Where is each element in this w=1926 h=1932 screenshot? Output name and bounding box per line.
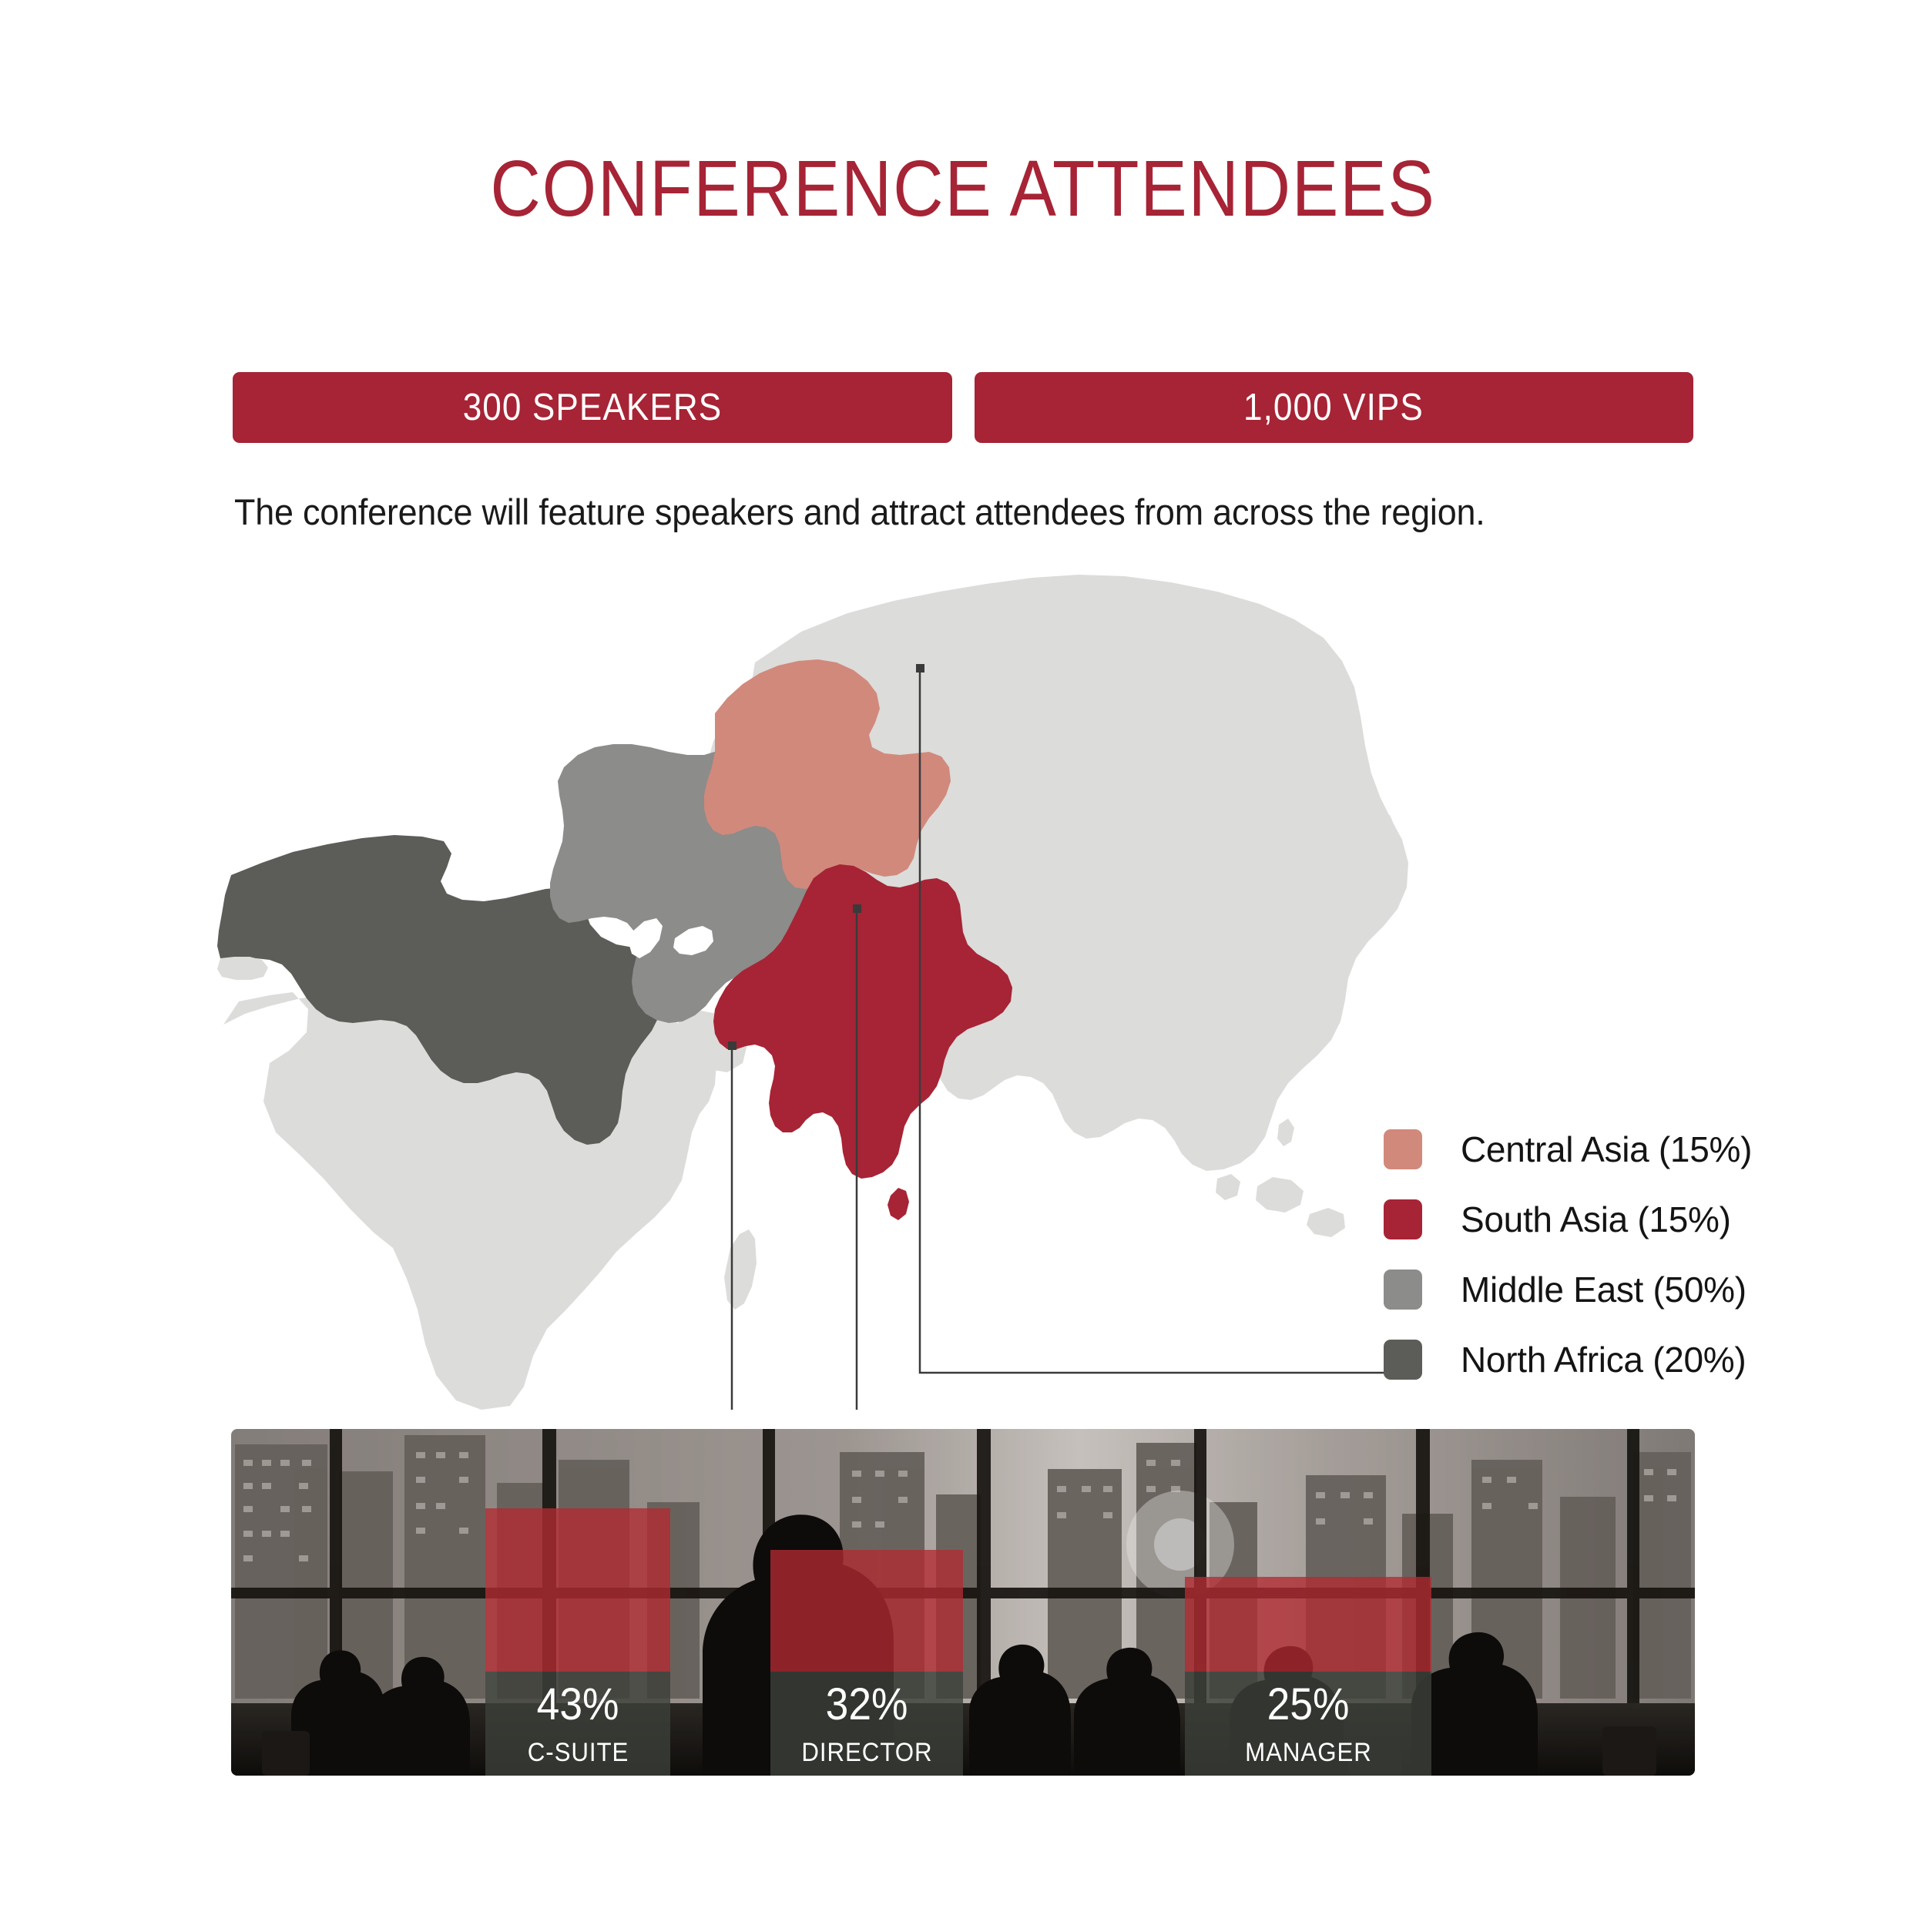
seniority-bar-label-box-director: 32% DIRECTOR: [770, 1672, 963, 1776]
seniority-bar-director: 32% DIRECTOR: [770, 1550, 963, 1776]
page-title: CONFERENCE ATTENDEES: [116, 143, 1810, 234]
stat-bar-speakers-label: 300 SPEAKERS: [462, 386, 722, 429]
stat-bar-group: 300 SPEAKERS 1,000 VIPS: [233, 372, 1693, 443]
seniority-bar-manager: 25% MANAGER: [1185, 1577, 1431, 1776]
map-region-western-sahara-notch: [217, 957, 268, 980]
legend-swatch-north-africa: [1384, 1340, 1422, 1380]
legend-item-north-africa[interactable]: North Africa (20%): [1384, 1324, 1877, 1394]
seniority-role-director: DIRECTOR: [801, 1739, 932, 1766]
map-svg: [216, 570, 1418, 1410]
seniority-bar-fill-director: [770, 1550, 963, 1672]
legend-item-south-asia[interactable]: South Asia (15%): [1384, 1184, 1877, 1254]
legend-swatch-south-asia: [1384, 1199, 1422, 1239]
leader-dot-south-asia: [853, 904, 861, 913]
legend-swatch-middle-east: [1384, 1270, 1422, 1310]
seniority-bar-fill-manager: [1185, 1577, 1431, 1672]
seniority-percent-manager: 25%: [1267, 1682, 1350, 1727]
legend-item-central-asia[interactable]: Central Asia (15%): [1384, 1114, 1877, 1184]
legend-label-central-asia: Central Asia (15%): [1461, 1129, 1752, 1170]
stat-bar-vips-label: 1,000 VIPS: [1243, 386, 1424, 429]
legend-swatch-central-asia: [1384, 1129, 1422, 1169]
stat-bar-vips: 1,000 VIPS: [975, 372, 1694, 443]
legend-item-middle-east[interactable]: Middle East (50%): [1384, 1254, 1877, 1324]
seniority-photo-panel: 43% C-SUITE 32% DIRECTOR 25% MANAGER: [231, 1429, 1695, 1776]
legend-label-south-asia: South Asia (15%): [1461, 1199, 1731, 1240]
seniority-bar-label-box-manager: 25% MANAGER: [1185, 1672, 1431, 1776]
seniority-role-manager: MANAGER: [1245, 1739, 1372, 1766]
seniority-percent-c-suite: 43%: [537, 1682, 619, 1727]
map-legend: Central Asia (15%) South Asia (15%) Midd…: [1384, 1114, 1877, 1394]
leader-dot-middle-east: [728, 1041, 737, 1050]
subtitle-text: The conference will feature speakers and…: [234, 491, 1485, 533]
legend-label-north-africa: North Africa (20%): [1461, 1339, 1746, 1380]
seniority-bar-c-suite: 43% C-SUITE: [485, 1508, 670, 1776]
legend-label-middle-east: Middle East (50%): [1461, 1269, 1746, 1310]
boardroom-photo: [231, 1429, 1695, 1776]
seniority-role-c-suite: C-SUITE: [527, 1739, 629, 1766]
seniority-bar-label-box-c-suite: 43% C-SUITE: [485, 1672, 670, 1776]
map-region-sri-lanka: [888, 1188, 909, 1220]
leader-dot-central-asia: [916, 664, 924, 673]
seniority-percent-director: 32%: [826, 1682, 908, 1727]
stat-bar-speakers: 300 SPEAKERS: [233, 372, 952, 443]
seniority-bar-fill-c-suite: [485, 1508, 670, 1672]
